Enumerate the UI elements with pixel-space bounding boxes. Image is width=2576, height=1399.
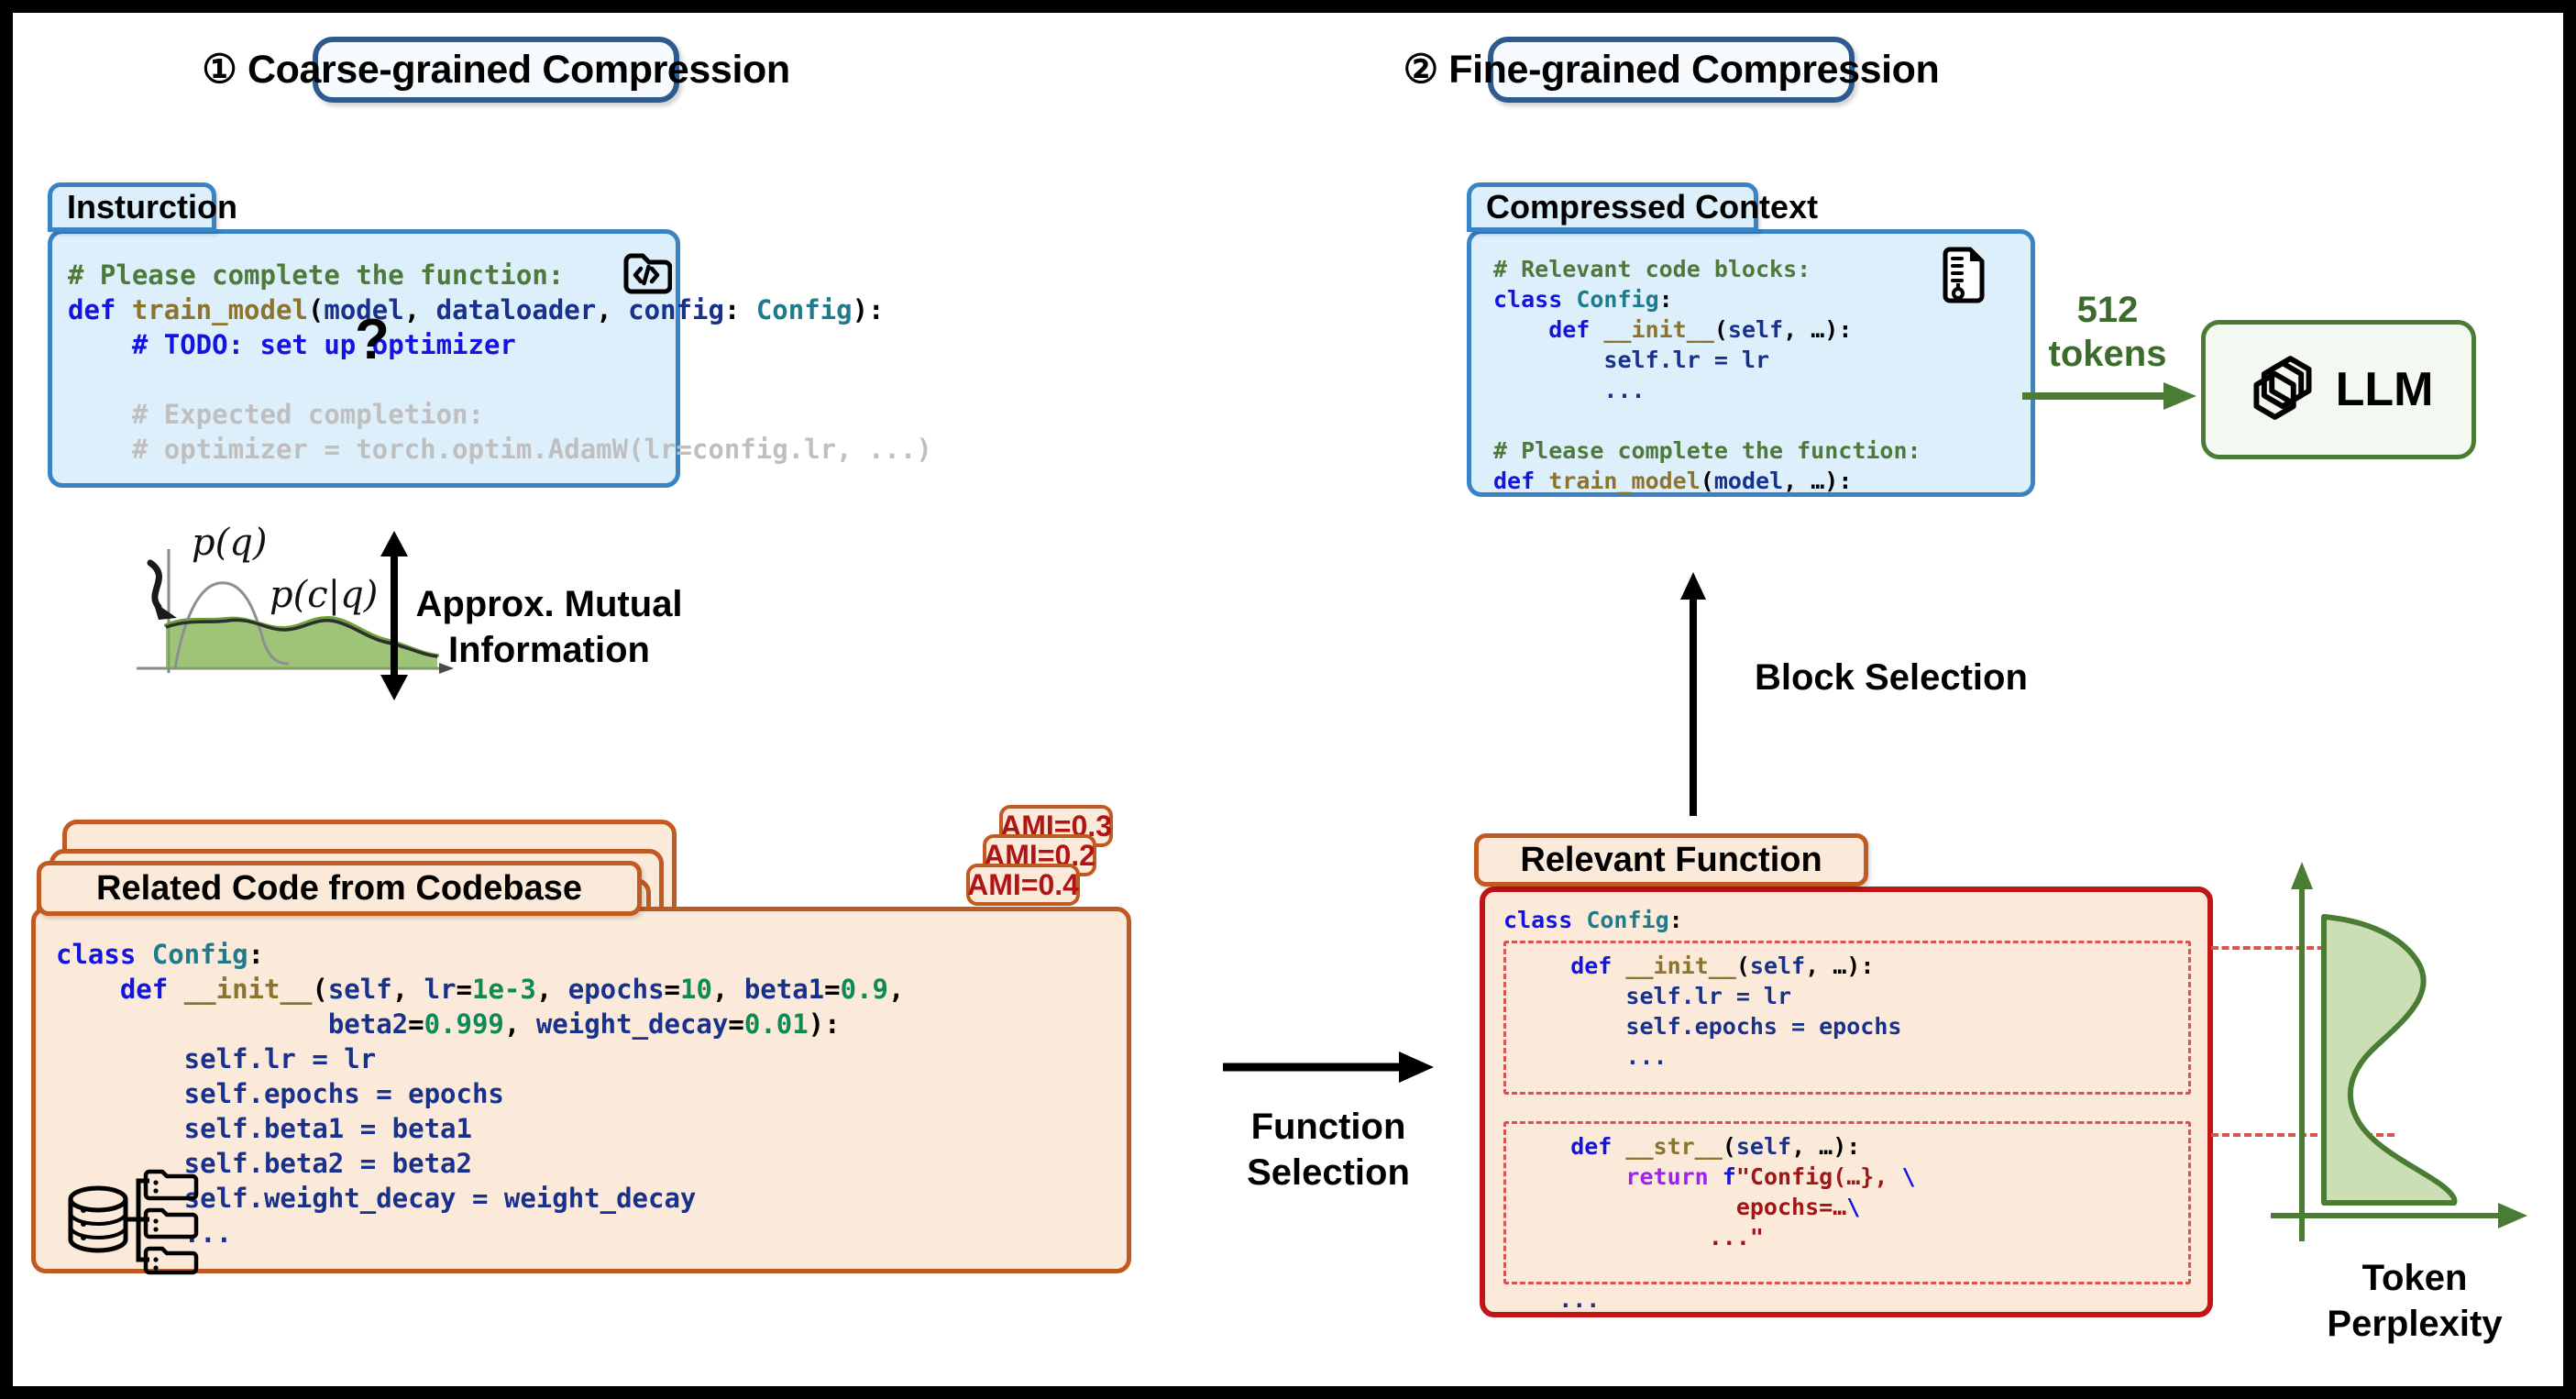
code-line: self.lr = lr	[1493, 345, 1921, 375]
code-line: ...	[1493, 375, 1921, 405]
block-selection-arrow	[1679, 572, 1707, 816]
code-token: ...	[1503, 1286, 1600, 1313]
code-line: # Please complete the function:	[1493, 435, 1921, 466]
code-line	[1493, 405, 1921, 435]
code-token: dataloader	[436, 294, 597, 325]
code-token: 1e-3	[472, 974, 536, 1005]
mutual-information-label: Approx. Mutual Information	[398, 581, 700, 673]
code-line: self.beta1 = beta1	[56, 1111, 904, 1146]
code-token: ...	[1493, 377, 1646, 403]
code-token: epochs	[568, 974, 665, 1005]
code-token: =	[408, 1008, 424, 1040]
code-token: :	[1669, 907, 1683, 933]
code-line: def __init__(self, …):	[1515, 951, 1901, 981]
related-code-card-tab-label: Related Code from Codebase	[96, 869, 582, 909]
code-token: (	[1701, 468, 1714, 494]
code-token: (	[1736, 953, 1750, 979]
code-token: self.beta1 = beta1	[56, 1113, 472, 1144]
code-token: lr	[424, 974, 457, 1005]
code-token: :	[724, 294, 756, 325]
relevant-function-card-tab-label: Relevant Function	[1520, 841, 1822, 880]
relevant-function-block-str: def __str__(self, …): return f"Config(…}…	[1503, 1121, 2191, 1284]
code-token: ,	[536, 974, 568, 1005]
code-token: def	[1493, 468, 1548, 494]
code-token: 0.999	[424, 1008, 504, 1040]
code-token: f	[1723, 1163, 1736, 1190]
code-token: return	[1515, 1163, 1723, 1190]
code-token: self.lr = lr	[56, 1043, 376, 1074]
llm-label: LLM	[2336, 362, 2434, 417]
compressed-context-card-tab: Compressed Context	[1467, 182, 1758, 232]
code-token: =	[728, 1008, 743, 1040]
code-token: Config	[756, 294, 853, 325]
curve-label-prior: p(q)	[192, 522, 267, 564]
code-token: # Expected completion:	[68, 399, 484, 430]
code-token: def	[1493, 316, 1603, 343]
code-token: self	[328, 974, 392, 1005]
code-token: epochs=…	[1515, 1194, 1846, 1220]
code-line: # TODO: set up optimizer	[68, 327, 932, 362]
related-code-card-tab: Related Code from Codebase	[37, 861, 642, 916]
code-token: Config	[1586, 907, 1668, 933]
llm-input-arrow	[2022, 380, 2196, 413]
code-token: \	[1901, 1163, 1915, 1190]
llm-box: LLM	[2201, 320, 2476, 459]
stage-title-fine: ② Fine-grained Compression	[1488, 37, 1855, 103]
code-token: ,	[888, 974, 904, 1005]
code-token: ..."	[1515, 1224, 1764, 1250]
code-token: 10	[680, 974, 712, 1005]
code-token: Config	[1576, 286, 1658, 313]
code-token: model	[1714, 468, 1783, 494]
code-token: beta1	[744, 974, 824, 1005]
code-token: ,	[404, 294, 436, 325]
instruction-card-tab-label: Insturction	[67, 188, 237, 226]
relevant-function-block-init-code: def __init__(self, …): self.lr = lr self…	[1515, 951, 1901, 1072]
code-token: self.epochs = epochs	[56, 1078, 504, 1109]
code-line: epochs=…\	[1515, 1192, 1916, 1222]
code-token: def	[1515, 1133, 1625, 1160]
code-token	[68, 364, 83, 395]
related-code-card: class Config: def __init__(self, lr=1e-3…	[31, 907, 1131, 1273]
openai-logo-icon	[2244, 349, 2321, 431]
code-token: weight_decay	[536, 1008, 729, 1040]
code-line: beta2=0.999, weight_decay=0.01):	[56, 1007, 904, 1041]
code-token: # optimizer = torch.optim.AdamW(lr=confi…	[68, 434, 932, 465]
block-selection-label: Block Selection	[1755, 655, 2176, 700]
code-token: , …):	[1805, 953, 1874, 979]
code-token: # TODO: set up optimizer	[68, 329, 516, 360]
code-token	[1493, 407, 1507, 434]
code-token: self.epochs = epochs	[1515, 1013, 1901, 1040]
compressed-context-card-tab-label: Compressed Context	[1486, 188, 1818, 226]
code-line: self.lr = lr	[1515, 981, 1901, 1011]
ami-badge-1: AMI=0.4	[966, 864, 1080, 906]
code-token: ):	[853, 294, 885, 325]
code-token: class	[1493, 286, 1576, 313]
code-line: ...	[1515, 1041, 1901, 1072]
code-token: (	[312, 974, 327, 1005]
code-token: :	[1659, 286, 1673, 313]
code-token: train_model	[132, 294, 308, 325]
token-perplexity-plot	[2263, 856, 2557, 1260]
compressed-context-card: # Relevant code blocks:class Config: def…	[1467, 229, 2035, 497]
stage-title-fine-label: ② Fine-grained Compression	[1404, 47, 1940, 93]
code-token: self.lr = lr	[1515, 983, 1791, 1009]
relevant-function-card-tab: Relevant Function	[1474, 833, 1868, 887]
code-token: def	[1515, 953, 1625, 979]
code-token: =	[824, 974, 840, 1005]
code-line: # Relevant code blocks:	[1493, 254, 1921, 284]
instruction-card: # Please complete the function:def train…	[48, 229, 680, 488]
code-token: 0.01	[744, 1008, 809, 1040]
tokens-label: 512 tokens	[2034, 288, 2181, 376]
diagram-canvas: ① Coarse-grained Compression ② Fine-grai…	[13, 13, 2563, 1386]
code-line: self.lr = lr	[56, 1041, 904, 1076]
relevant-function-class-line: class Config:	[1503, 905, 1683, 935]
stage-title-coarse: ① Coarse-grained Compression	[313, 37, 679, 103]
code-line: # optimizer = torch.optim.AdamW(lr=confi…	[68, 432, 932, 467]
code-token: (	[1714, 316, 1728, 343]
code-token: "Config(…},	[1736, 1163, 1902, 1190]
code-line: def train_model(model, …):	[1493, 466, 1921, 496]
code-token: ,	[504, 1008, 536, 1040]
code-token: 0.9	[841, 974, 888, 1005]
code-token: ,	[392, 974, 424, 1005]
code-token: =	[457, 974, 472, 1005]
code-token	[56, 1008, 328, 1040]
code-token: self	[1750, 953, 1805, 979]
code-line: ...	[1503, 1284, 1600, 1315]
code-token: # Relevant code blocks:	[1493, 256, 1811, 282]
relevant-function-block-str-code: def __str__(self, …): return f"Config(…}…	[1515, 1131, 1916, 1252]
code-token: # Please complete the function:	[68, 259, 564, 291]
code-line: ..."	[1515, 1222, 1916, 1252]
relevant-function-block-init: def __init__(self, …): self.lr = lr self…	[1503, 941, 2191, 1095]
code-line: def __str__(self, …):	[1515, 1131, 1916, 1162]
code-token: =	[665, 974, 680, 1005]
code-token: ,	[712, 974, 744, 1005]
code-token: def	[56, 974, 184, 1005]
code-token: Config	[152, 939, 248, 970]
code-line: class Config:	[1503, 905, 1683, 935]
code-token: (	[308, 294, 324, 325]
code-line	[68, 362, 932, 397]
code-line: def train_model(model, dataloader, confi…	[68, 292, 932, 327]
code-token: __init__	[184, 974, 313, 1005]
code-line: class Config:	[56, 937, 904, 972]
code-line: def __init__(self, lr=1e-3, epochs=10, b…	[56, 972, 904, 1007]
code-token: __str__	[1625, 1133, 1722, 1160]
question-mark: ?	[355, 314, 390, 366]
code-token: ...	[1515, 1043, 1668, 1070]
code-token: class	[1503, 907, 1586, 933]
code-token: class	[56, 939, 152, 970]
code-line: # Expected completion:	[68, 397, 932, 432]
code-token: self	[1736, 1133, 1791, 1160]
code-token: train_model	[1548, 468, 1701, 494]
code-token: :	[248, 939, 264, 970]
code-line: self.epochs = epochs	[56, 1076, 904, 1111]
code-token: , …):	[1783, 316, 1852, 343]
code-token: # Please complete the function:	[1493, 437, 1921, 464]
stage-title-coarse-label: ① Coarse-grained Compression	[202, 47, 789, 93]
code-token: (	[1723, 1133, 1736, 1160]
code-line: self.epochs = epochs	[1515, 1011, 1901, 1041]
instruction-card-tab: Insturction	[48, 182, 216, 232]
token-perplexity-axis-label: Token Perplexity	[2277, 1255, 2552, 1347]
code-token: __init__	[1625, 953, 1735, 979]
code-token: \	[1846, 1194, 1860, 1220]
code-token: , …):	[1783, 468, 1852, 494]
code-token: def	[68, 294, 132, 325]
relevant-function-card: class Config: def __init__(self, …): sel…	[1480, 887, 2213, 1317]
code-token: ):	[809, 1008, 841, 1040]
relevant-function-trailing-code: ...	[1503, 1284, 1600, 1315]
database-folders-icon	[63, 1166, 201, 1281]
code-folder-icon	[621, 247, 672, 303]
code-line: def __init__(self, …):	[1493, 314, 1921, 345]
compressed-context-code-block: # Relevant code blocks:class Config: def…	[1493, 254, 1921, 496]
code-token: self	[1728, 316, 1783, 343]
function-selection-arrow	[1223, 1049, 1434, 1085]
code-line: # Please complete the function:	[68, 258, 932, 292]
function-selection-label: Function Selection	[1195, 1104, 1461, 1195]
code-line: return f"Config(…}, \	[1515, 1162, 1916, 1192]
code-token: self.lr = lr	[1493, 347, 1769, 373]
code-line: class Config:	[1493, 284, 1921, 314]
zip-file-icon	[1939, 247, 1988, 310]
instruction-code-block: # Please complete the function:def train…	[68, 258, 932, 467]
code-token: , …):	[1791, 1133, 1860, 1160]
curve-label-posterior: p(c|q)	[270, 574, 378, 616]
code-token: beta2	[328, 1008, 408, 1040]
code-token: __init__	[1603, 316, 1713, 343]
